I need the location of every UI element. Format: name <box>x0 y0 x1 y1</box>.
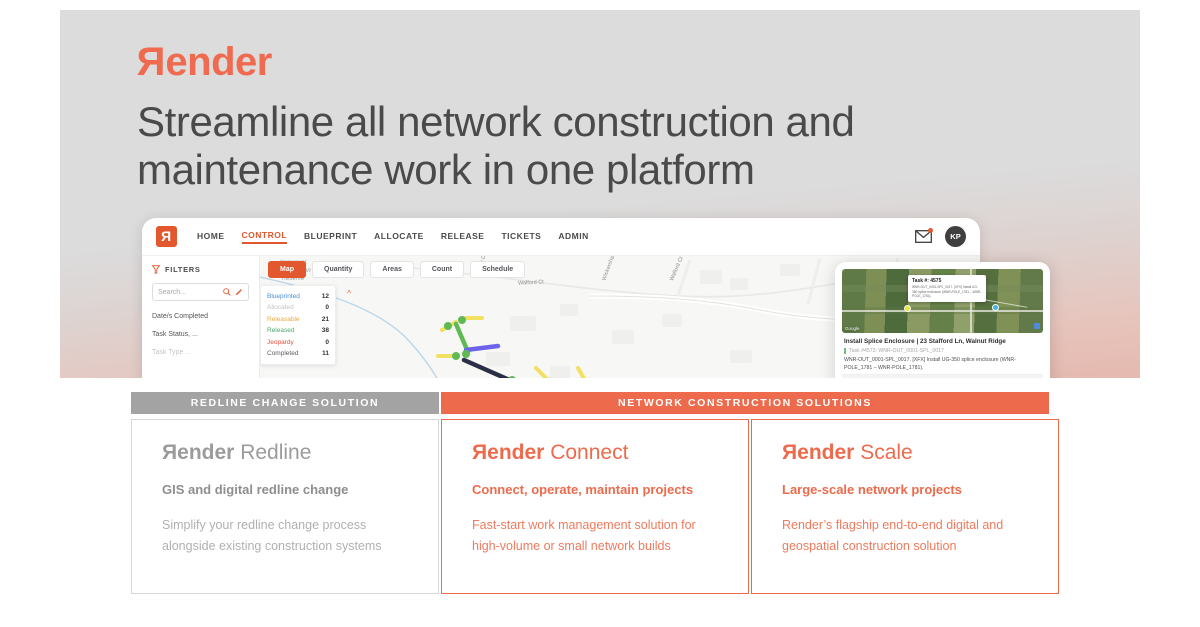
card-description: Render’s flagship end-to-end digital and… <box>782 515 1028 556</box>
satellite-map[interactable]: Task #: 4575 WNR-OUT_0001-SPL_0017. [XFX… <box>842 269 1043 333</box>
filters-panel: FILTERS Search... Date/s Completed Task … <box>142 256 260 378</box>
card-description: Simplify your redline change process alo… <box>162 515 408 556</box>
search-placeholder: Search... <box>158 289 223 296</box>
map-marker-info[interactable] <box>992 304 999 311</box>
filters-header: FILTERS <box>152 265 249 274</box>
card-product-name: Redline <box>240 441 311 464</box>
task-detail-card: Task #: 4575 WNR-OUT_0001-SPL_0017. [XFX… <box>835 262 1050 378</box>
card-description: Fast-start work management solution for … <box>472 515 718 556</box>
card-product-name: Connect <box>550 441 628 464</box>
legend-row-releasable: Releasable21 <box>267 314 329 325</box>
legend-row-allocated: Allocated0 <box>267 302 329 313</box>
filter-row-dates-completed[interactable]: Date/s Completed <box>152 313 249 320</box>
map-control-button[interactable] <box>1034 323 1040 329</box>
band-redline-change-solution: REDLINE CHANGE SOLUTION <box>131 392 439 414</box>
map-popup: Task #: 4575 WNR-OUT_0001-SPL_0017. [XFX… <box>908 275 986 302</box>
tab-map[interactable]: Map <box>268 261 306 278</box>
pencil-icon <box>235 288 243 296</box>
filters-title: FILTERS <box>165 265 201 274</box>
task-card-footer <box>842 374 1043 378</box>
card-logo-scale: Render Scale <box>782 442 1028 463</box>
nav-item-home[interactable]: HOME <box>197 231 225 243</box>
card-product-name: Scale <box>860 441 913 464</box>
render-logo: Render <box>137 42 272 82</box>
render-logo-text: ender <box>165 40 271 84</box>
app-logo-icon[interactable]: R <box>156 226 177 247</box>
status-legend: Blueprinted12 Allocated0 Releasable21 Re… <box>260 285 336 365</box>
nav-item-release[interactable]: RELEASE <box>441 231 485 243</box>
card-render-connect[interactable]: Render Connect Connect, operate, maintai… <box>441 419 749 594</box>
navbar-right-group: KP <box>915 226 966 247</box>
legend-row-jeopardy: Jeopardy0 <box>267 337 329 348</box>
notification-dot <box>928 228 933 233</box>
popup-body: WNR-OUT_0001-SPL_0017. [XFX] Install UG-… <box>912 285 982 299</box>
task-title: Install Splice Enclosure | 23 Stafford L… <box>844 338 1041 346</box>
card-logo-connect: Render Connect <box>472 442 718 463</box>
legend-row-completed: Completed11 <box>267 348 329 359</box>
slide-root: Render Streamline all network constructi… <box>0 0 1200 627</box>
map-marker-selected[interactable] <box>904 305 911 312</box>
tab-count[interactable]: Count <box>420 261 464 278</box>
nav-item-allocate[interactable]: ALLOCATE <box>374 231 424 243</box>
card-render-redline[interactable]: Render Redline GIS and digital redline c… <box>131 419 439 594</box>
task-subtitle: Task #4573: WNR-OUT_0001-SPL_0017 <box>844 348 1041 354</box>
legend-row-blueprinted: Blueprinted12 <box>267 291 329 302</box>
card-subtitle: Connect, operate, maintain projects <box>472 482 718 499</box>
tab-areas[interactable]: Areas <box>370 261 413 278</box>
filter-row-task-type[interactable]: Task Type ... <box>152 349 249 356</box>
view-tabs: Map Quantity Areas Count Schedule <box>260 256 533 282</box>
funnel-icon <box>152 265 160 274</box>
popup-title: Task #: 4575 <box>912 278 982 284</box>
map-credit: Google <box>845 326 860 331</box>
mail-icon[interactable] <box>915 230 932 243</box>
page-title: Streamline all network construction and … <box>137 98 1037 194</box>
card-logo-redline: Render Redline <box>162 442 408 463</box>
band-network-construction-solutions: NETWORK CONSTRUCTION SOLUTIONS <box>441 392 1049 414</box>
task-description: WNR-OUT_0001-SPL_0017. [XFX] Install UG-… <box>844 357 1041 373</box>
card-render-scale[interactable]: Render Scale Large-scale network project… <box>751 419 1059 594</box>
legend-row-released: Released38 <box>267 325 329 336</box>
nav-item-control[interactable]: CONTROL <box>242 230 288 244</box>
nav-item-blueprint[interactable]: BLUEPRINT <box>304 231 357 243</box>
nav-item-tickets[interactable]: TICKETS <box>501 231 541 243</box>
app-navbar: R HOME CONTROL BLUEPRINT ALLOCATE RELEAS… <box>142 218 980 256</box>
task-info: Install Splice Enclosure | 23 Stafford L… <box>842 333 1043 373</box>
nav-item-admin[interactable]: ADMIN <box>558 231 588 243</box>
hero-band: Render Streamline all network constructi… <box>60 10 1140 378</box>
card-subtitle: GIS and digital redline change <box>162 482 408 499</box>
search-input[interactable]: Search... <box>152 283 249 301</box>
tab-schedule[interactable]: Schedule <box>470 261 525 278</box>
search-icon <box>223 288 231 296</box>
avatar[interactable]: KP <box>945 226 966 247</box>
card-subtitle: Large-scale network projects <box>782 482 1028 499</box>
tab-quantity[interactable]: Quantity <box>312 261 364 278</box>
chevron-up-icon[interactable]: ^ <box>347 289 351 298</box>
filter-row-task-status[interactable]: Task Status, ... <box>152 331 249 338</box>
